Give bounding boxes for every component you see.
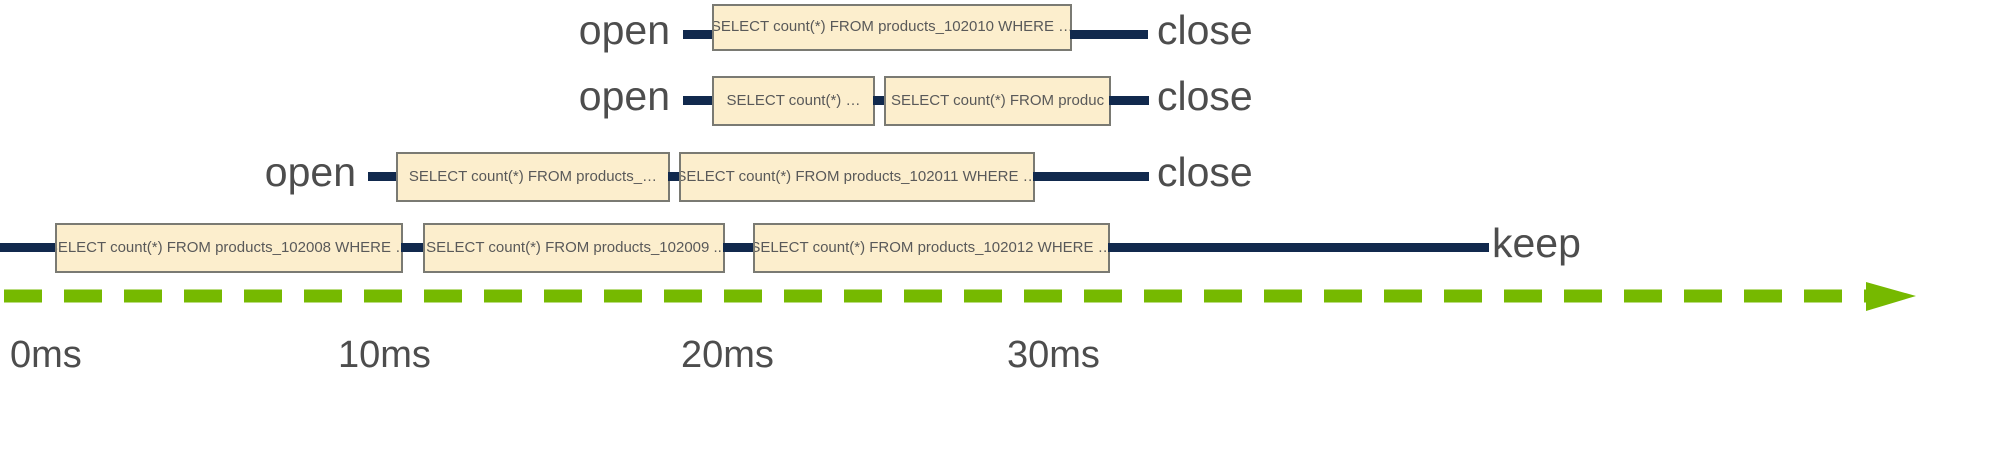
query-box[interactable]: SELECT count(*) FROM products_102010 WHE…	[712, 4, 1072, 51]
row-2-open-label: open	[560, 76, 670, 117]
row-2-open-connector	[683, 96, 715, 105]
row-4-keep-label: keep	[1492, 223, 1581, 264]
time-tick-label: 10ms	[338, 336, 431, 374]
timeline-diagram: open SELECT count(*) FROM products_10201…	[0, 0, 2000, 476]
time-tick-label: 30ms	[1007, 336, 1100, 374]
row-4-keep-connector	[1108, 243, 1489, 252]
row-4-inter-connector-2	[723, 243, 755, 252]
row-4-inter-connector-1	[401, 243, 425, 252]
row-3-close-connector	[1033, 172, 1149, 181]
time-axis-arrow	[0, 282, 1930, 318]
query-box[interactable]: SELECT count(*) FROM products_102008 WHE…	[55, 223, 403, 273]
row-1-open-connector	[683, 30, 715, 39]
query-box[interactable]: SELECT count(*) …	[712, 76, 875, 126]
time-tick-label: 20ms	[681, 336, 774, 374]
query-box[interactable]: SELECT count(*) FROM products_102009 ..	[423, 223, 725, 273]
time-tick-label: 0ms	[10, 336, 82, 374]
row-3-open-label: open	[246, 152, 356, 193]
row-1-open-label: open	[560, 10, 670, 51]
row-1-close-connector	[1070, 30, 1148, 39]
row-3-close-label: close	[1157, 152, 1253, 193]
query-box[interactable]: SELECT count(*) FROM produc	[884, 76, 1111, 126]
row-2-close-label: close	[1157, 76, 1253, 117]
query-box[interactable]: SELECT count(*) FROM products_…	[396, 152, 670, 202]
row-2-close-connector	[1109, 96, 1149, 105]
query-box[interactable]: SELECT count(*) FROM products_102011 WHE…	[679, 152, 1035, 202]
row-4-left-connector	[0, 243, 60, 252]
row-1-close-label: close	[1157, 10, 1253, 51]
query-box[interactable]: SELECT count(*) FROM products_102012 WHE…	[753, 223, 1110, 273]
